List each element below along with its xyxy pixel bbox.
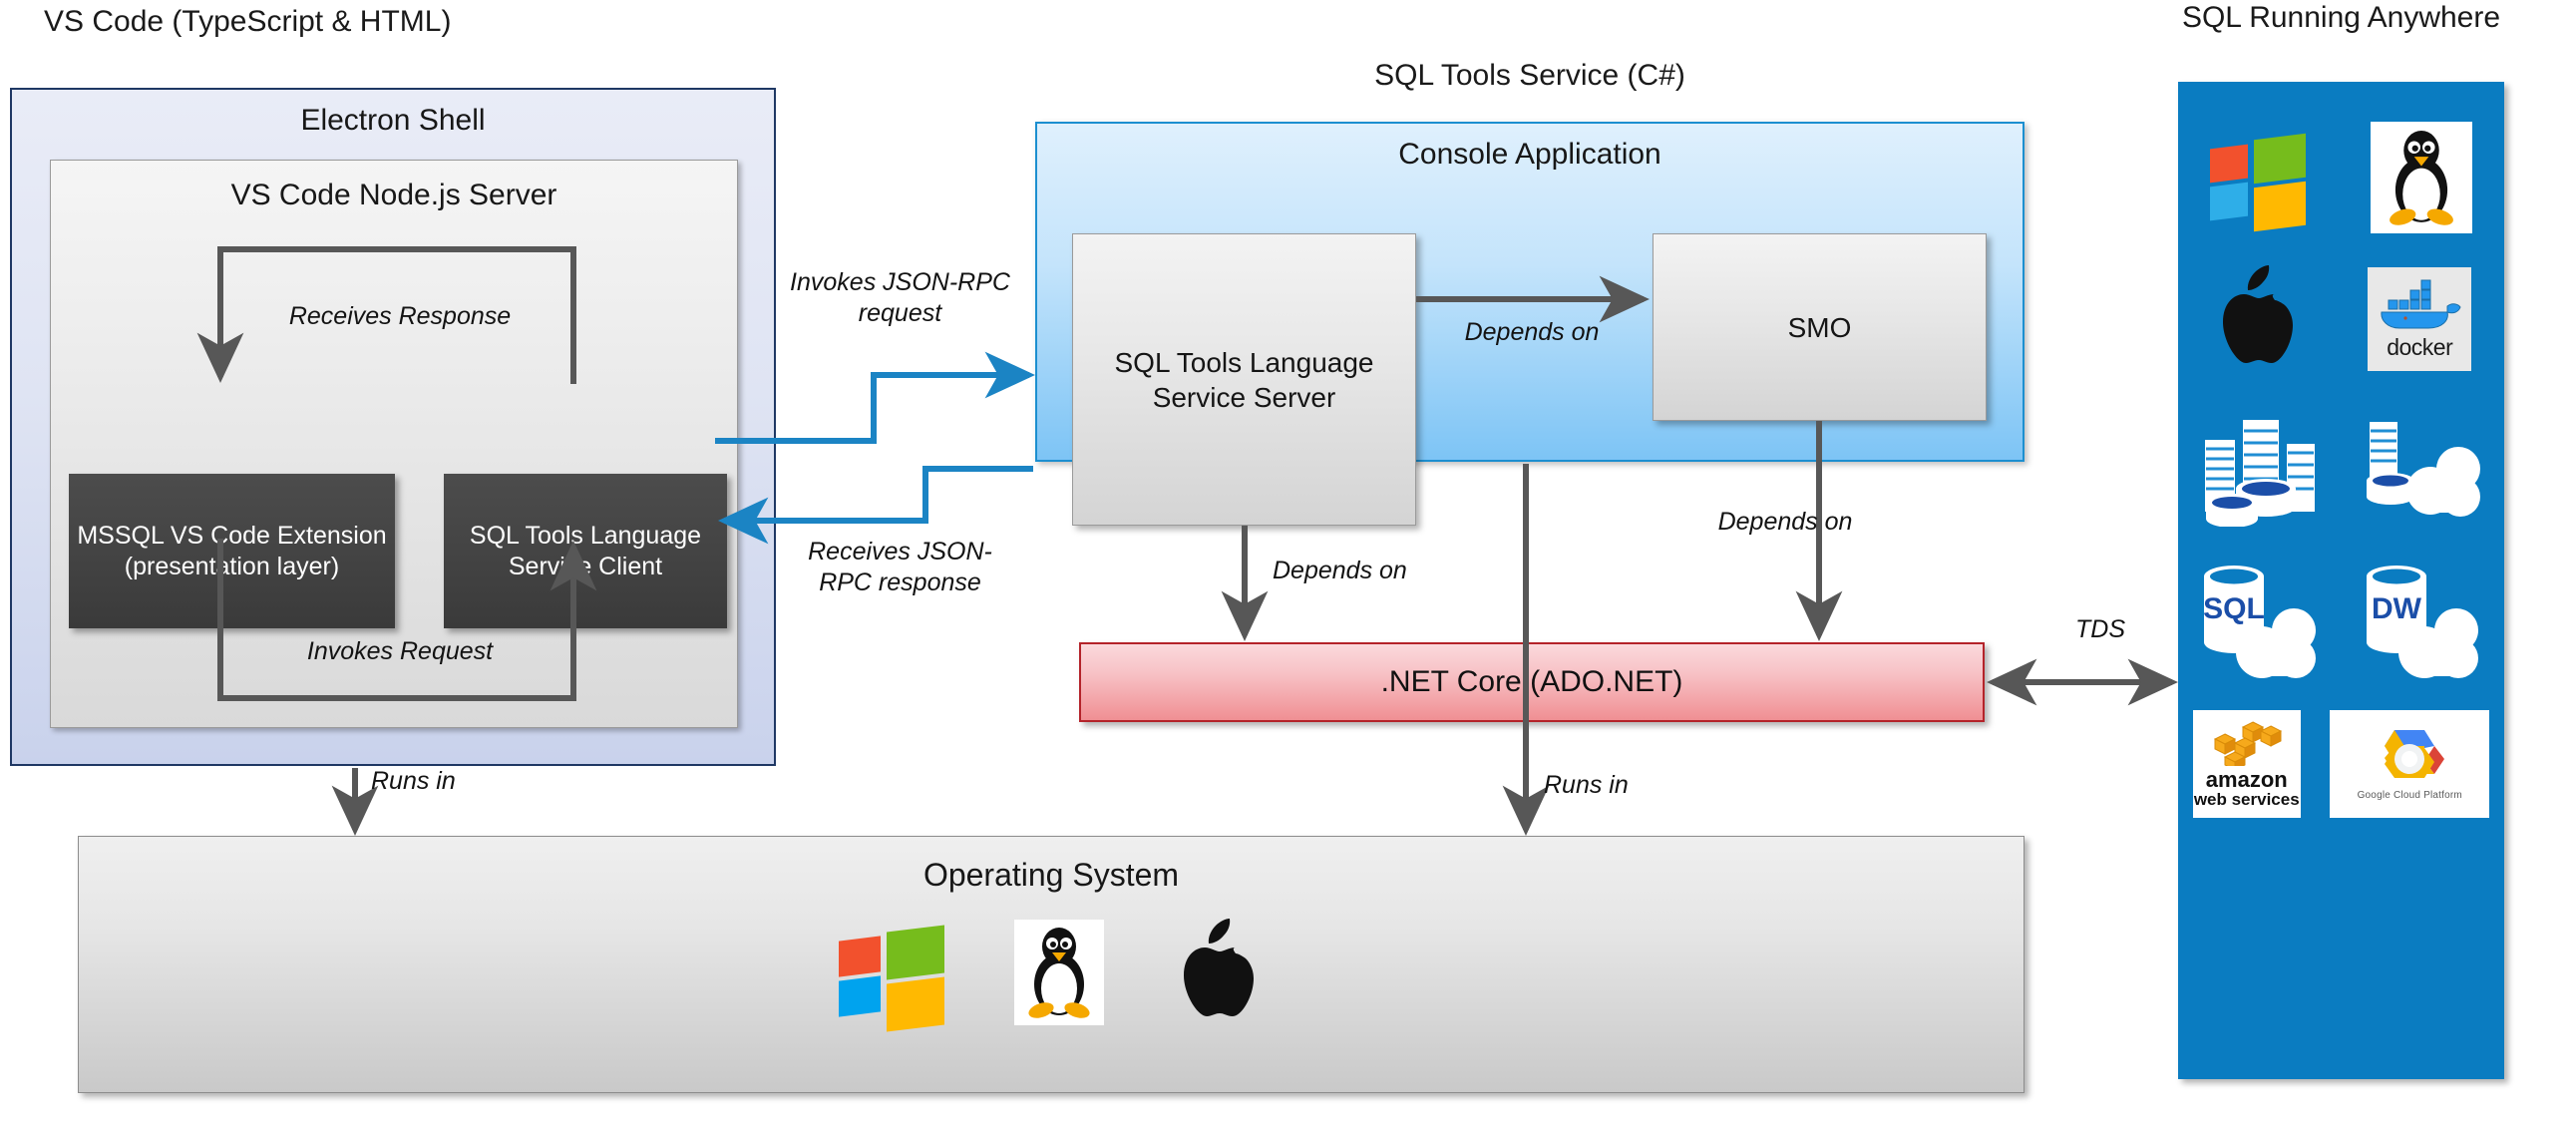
gcp-logo-label: Google Cloud Platform: [2358, 790, 2462, 801]
label-invokes-jsonrpc-request-text: Invokes JSON-RPC request: [790, 268, 1010, 327]
vscode-node-server-label: VS Code Node.js Server: [51, 179, 737, 212]
linux-tux-icon: [1023, 927, 1095, 1018]
windows-logo-pane-yellow: [887, 976, 944, 1031]
linux-tux-icon: [2382, 130, 2461, 225]
windows-logo-pane-red: [2210, 145, 2248, 184]
aws-logo-line1: amazon: [2206, 769, 2288, 791]
windows-logo-pane-red: [839, 936, 881, 976]
page-title-sqltools-service: SQL Tools Service (C#): [1035, 58, 2024, 95]
console-application-label: Console Application: [1037, 138, 2023, 172]
title-sql-anywhere-text: SQL Running Anywhere: [2182, 1, 2500, 34]
sql-server-on-prem-icon: [2196, 407, 2324, 527]
sql-anywhere-row-1: [2178, 104, 2504, 251]
linux-tux-logo: [1014, 920, 1104, 1025]
sql-anywhere-row-5: amazon web services Google Cloud Platfor…: [2178, 704, 2504, 824]
azure-sql-db-label: SQL: [2203, 592, 2265, 625]
label-depends-on-core-right-text: Depends on: [1718, 508, 1853, 536]
label-receives-response-text: Receives Response: [289, 302, 511, 330]
docker-whale-icon: [2376, 278, 2463, 332]
aws-cubes-icon: [2209, 720, 2285, 766]
dotnet-core-adonet-box[interactable]: .NET Core (ADO.NET): [1079, 642, 1985, 722]
windows-logo-pane-green: [887, 925, 944, 979]
sql-running-anywhere-panel: docker: [2178, 82, 2504, 1079]
apple-logo: [2211, 263, 2303, 375]
operating-system-logo-row: [79, 919, 2024, 1026]
operating-system-label: Operating System: [79, 857, 2024, 894]
sql-anywhere-row-2: docker: [2178, 249, 2504, 389]
smo-label: SMO: [1788, 310, 1852, 345]
label-depends-on-core-left: Depends on: [1273, 556, 1492, 586]
operating-system-panel: Operating System: [78, 836, 2024, 1093]
azure-sql-dw-icon: DW: [2353, 553, 2492, 682]
windows-logo-pane-blue: [2210, 183, 2248, 221]
sql-server-cloud-icon: [2359, 407, 2486, 527]
sqltools-language-service-client-box[interactable]: SQL Tools Language Service Client: [444, 474, 727, 628]
label-runs-in-right: Runs in: [1544, 770, 1723, 801]
azure-sql-db-icon: SQL: [2190, 553, 2330, 682]
aws-logo-line2: web services: [2194, 791, 2300, 808]
azure-sql-dw-label: DW: [2372, 592, 2422, 625]
label-tds-text: TDS: [2075, 615, 2125, 643]
windows-logo: [2210, 135, 2306, 220]
sqltools-language-service-server-box[interactable]: SQL Tools Language Service Server: [1072, 233, 1416, 526]
apple-logo-icon: [1172, 919, 1264, 1026]
label-receives-response: Receives Response: [235, 301, 564, 332]
sqltools-language-service-client-label: SQL Tools Language Service Client: [452, 521, 719, 581]
label-depends-on-core-left-text: Depends on: [1273, 557, 1407, 584]
windows-logo: [839, 927, 946, 1018]
smo-box[interactable]: SMO: [1653, 233, 1987, 421]
label-runs-in-right-text: Runs in: [1544, 771, 1629, 799]
label-tds: TDS: [2030, 614, 2170, 645]
mssql-vscode-extension-box[interactable]: MSSQL VS Code Extension (presentation la…: [69, 474, 395, 628]
page-title-vscode: VS Code (TypeScript & HTML): [10, 4, 742, 41]
gcp-hexagon-icon: [2373, 728, 2446, 790]
amazon-web-services-logo: amazon web services: [2193, 710, 2301, 818]
mssql-vscode-extension-label: MSSQL VS Code Extension (presentation la…: [77, 521, 387, 581]
google-cloud-platform-logo: Google Cloud Platform: [2330, 710, 2489, 818]
label-receives-jsonrpc-response-text: Receives JSON-RPC response: [808, 538, 992, 596]
sql-anywhere-row-4: SQL DW: [2178, 543, 2504, 692]
label-runs-in-left: Runs in: [371, 766, 551, 797]
title-sqltools-text: SQL Tools Service (C#): [1374, 59, 1685, 92]
linux-tux-logo: [2371, 122, 2472, 233]
apple-logo-icon: [2211, 263, 2303, 375]
title-vscode-text: VS Code (TypeScript & HTML): [44, 5, 451, 38]
label-invokes-request: Invokes Request: [235, 636, 564, 667]
label-invokes-jsonrpc-request: Invokes JSON-RPC request: [788, 267, 1012, 330]
sqltools-language-service-server-label: SQL Tools Language Service Server: [1073, 345, 1415, 415]
docker-logo: docker: [2368, 267, 2471, 371]
windows-logo-pane-blue: [839, 975, 881, 1016]
label-depends-on-smo: Depends on: [1432, 317, 1632, 348]
sql-anywhere-row-3: [2178, 399, 2504, 535]
windows-logo-pane-green: [2254, 134, 2306, 184]
label-invokes-request-text: Invokes Request: [307, 637, 493, 665]
label-depends-on-core-right: Depends on: [1656, 507, 1915, 538]
label-runs-in-left-text: Runs in: [371, 767, 456, 795]
page-title-sql-anywhere: SQL Running Anywhere: [2178, 0, 2504, 37]
apple-logo: [1172, 919, 1264, 1026]
windows-logo-pane-yellow: [2254, 182, 2306, 231]
dotnet-core-adonet-label: .NET Core (ADO.NET): [1381, 665, 1683, 699]
label-depends-on-smo-text: Depends on: [1465, 318, 1600, 346]
docker-logo-label: docker: [2387, 334, 2452, 361]
electron-shell-label: Electron Shell: [12, 104, 774, 138]
label-receives-jsonrpc-response: Receives JSON-RPC response: [788, 537, 1012, 599]
